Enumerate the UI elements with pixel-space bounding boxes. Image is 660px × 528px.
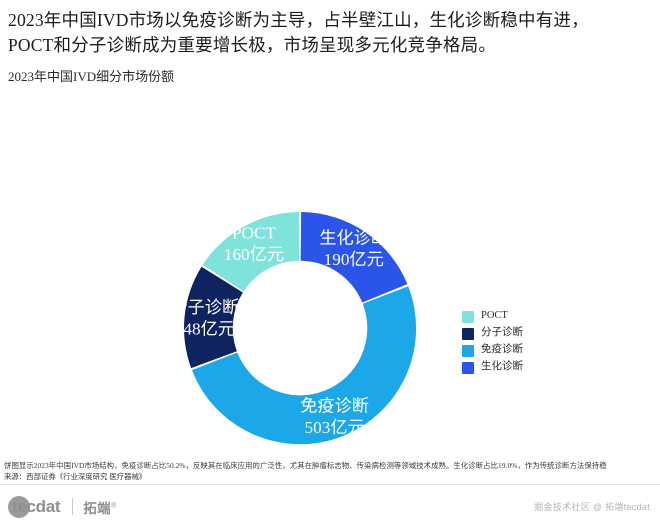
- legend-swatch-icon: [462, 362, 474, 374]
- headline-line-2: POCT和分子诊断成为重要增长极，市场呈现多元化竞争格局。: [8, 33, 652, 58]
- brand-logo[interactable]: tecdat 拓端®: [10, 496, 117, 518]
- legend-swatch-icon: [462, 328, 474, 340]
- brand-mark: tecdat: [10, 496, 60, 518]
- legend-item[interactable]: 分子诊断: [462, 327, 523, 341]
- legend-item-label: 分子诊断: [481, 328, 523, 339]
- legend-swatch-icon: [462, 311, 474, 323]
- footnote-analysis: 饼图显示2023年中国IVD市场结构，免疫诊断占比50.2%，反映其在临床应用的…: [4, 460, 656, 471]
- chart-legend: POCT分子诊断免疫诊断生化诊断: [462, 310, 523, 375]
- registered-mark-icon: ®: [111, 502, 117, 509]
- footnote-block: 饼图显示2023年中国IVD市场结构，免疫诊断占比50.2%，反映其在临床应用的…: [0, 460, 660, 484]
- brand-wordmark: tecdat: [10, 497, 60, 517]
- bottom-bar: tecdat 拓端® 掘金技术社区 @ 拓端tecdat: [0, 484, 660, 528]
- footnote-source: 来源：西部证券《行业深度研究 医疗器械》: [4, 471, 656, 484]
- legend-item-label: 生化诊断: [481, 362, 523, 373]
- chart-subtitle: 2023年中国IVD细分市场份额: [0, 59, 660, 86]
- legend-item[interactable]: 生化诊断: [462, 361, 523, 375]
- bottom-bar-attribution: 掘金技术社区 @ 拓端tecdat: [534, 500, 650, 513]
- legend-swatch-icon: [462, 345, 474, 357]
- brand-chinese-name: 拓端®: [83, 497, 116, 517]
- legend-item-label: POCT: [481, 311, 508, 322]
- slide-page: 2023年中国IVD市场以免疫诊断为主导，占半壁江山，生化诊断稳中有进， POC…: [0, 0, 660, 528]
- headline-line-1: 2023年中国IVD市场以免疫诊断为主导，占半壁江山，生化诊断稳中有进，: [8, 8, 652, 33]
- brand-cn-text: 拓端: [83, 501, 111, 516]
- legend-item[interactable]: POCT: [462, 310, 523, 324]
- page-title: 2023年中国IVD市场以免疫诊断为主导，占半壁江山，生化诊断稳中有进， POC…: [0, 0, 660, 59]
- legend-item-label: 免疫诊断: [481, 345, 523, 356]
- donut-chart: 生化诊断190亿元免疫诊断503亿元分子诊断148亿元POCT160亿元: [180, 208, 420, 448]
- donut-svg: 生化诊断190亿元免疫诊断503亿元分子诊断148亿元POCT160亿元: [180, 208, 420, 448]
- chart-canvas: 生化诊断190亿元免疫诊断503亿元分子诊断148亿元POCT160亿元 POC…: [0, 90, 660, 420]
- brand-divider: [72, 498, 73, 515]
- legend-item[interactable]: 免疫诊断: [462, 344, 523, 358]
